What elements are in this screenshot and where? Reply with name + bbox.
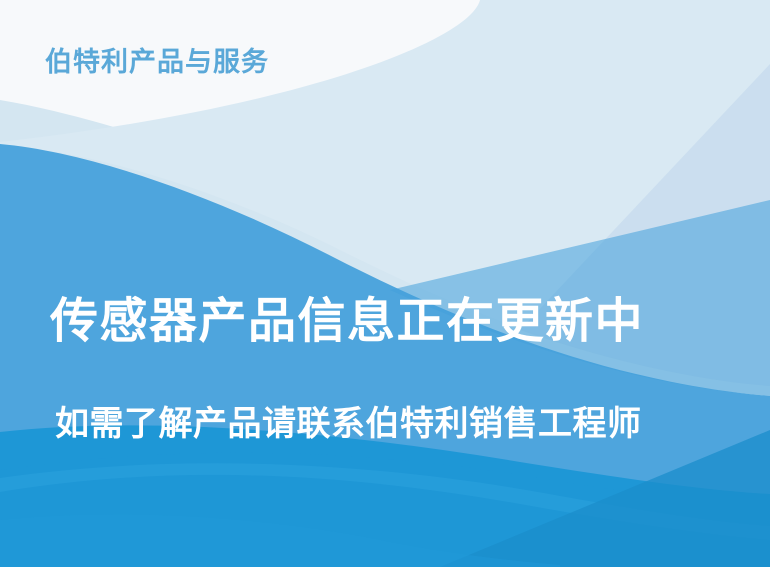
brand-title: 伯特利产品与服务 [45, 46, 269, 78]
background-curves-graphic [0, 0, 770, 567]
page-title: 传感器产品信息正在更新中 [50, 296, 644, 349]
page-subtitle: 如需了解产品请联系伯特利销售工程师 [55, 406, 642, 443]
product-placeholder-banner: 伯特利产品与服务 传感器产品信息正在更新中 如需了解产品请联系伯特利销售工程师 [0, 0, 770, 567]
